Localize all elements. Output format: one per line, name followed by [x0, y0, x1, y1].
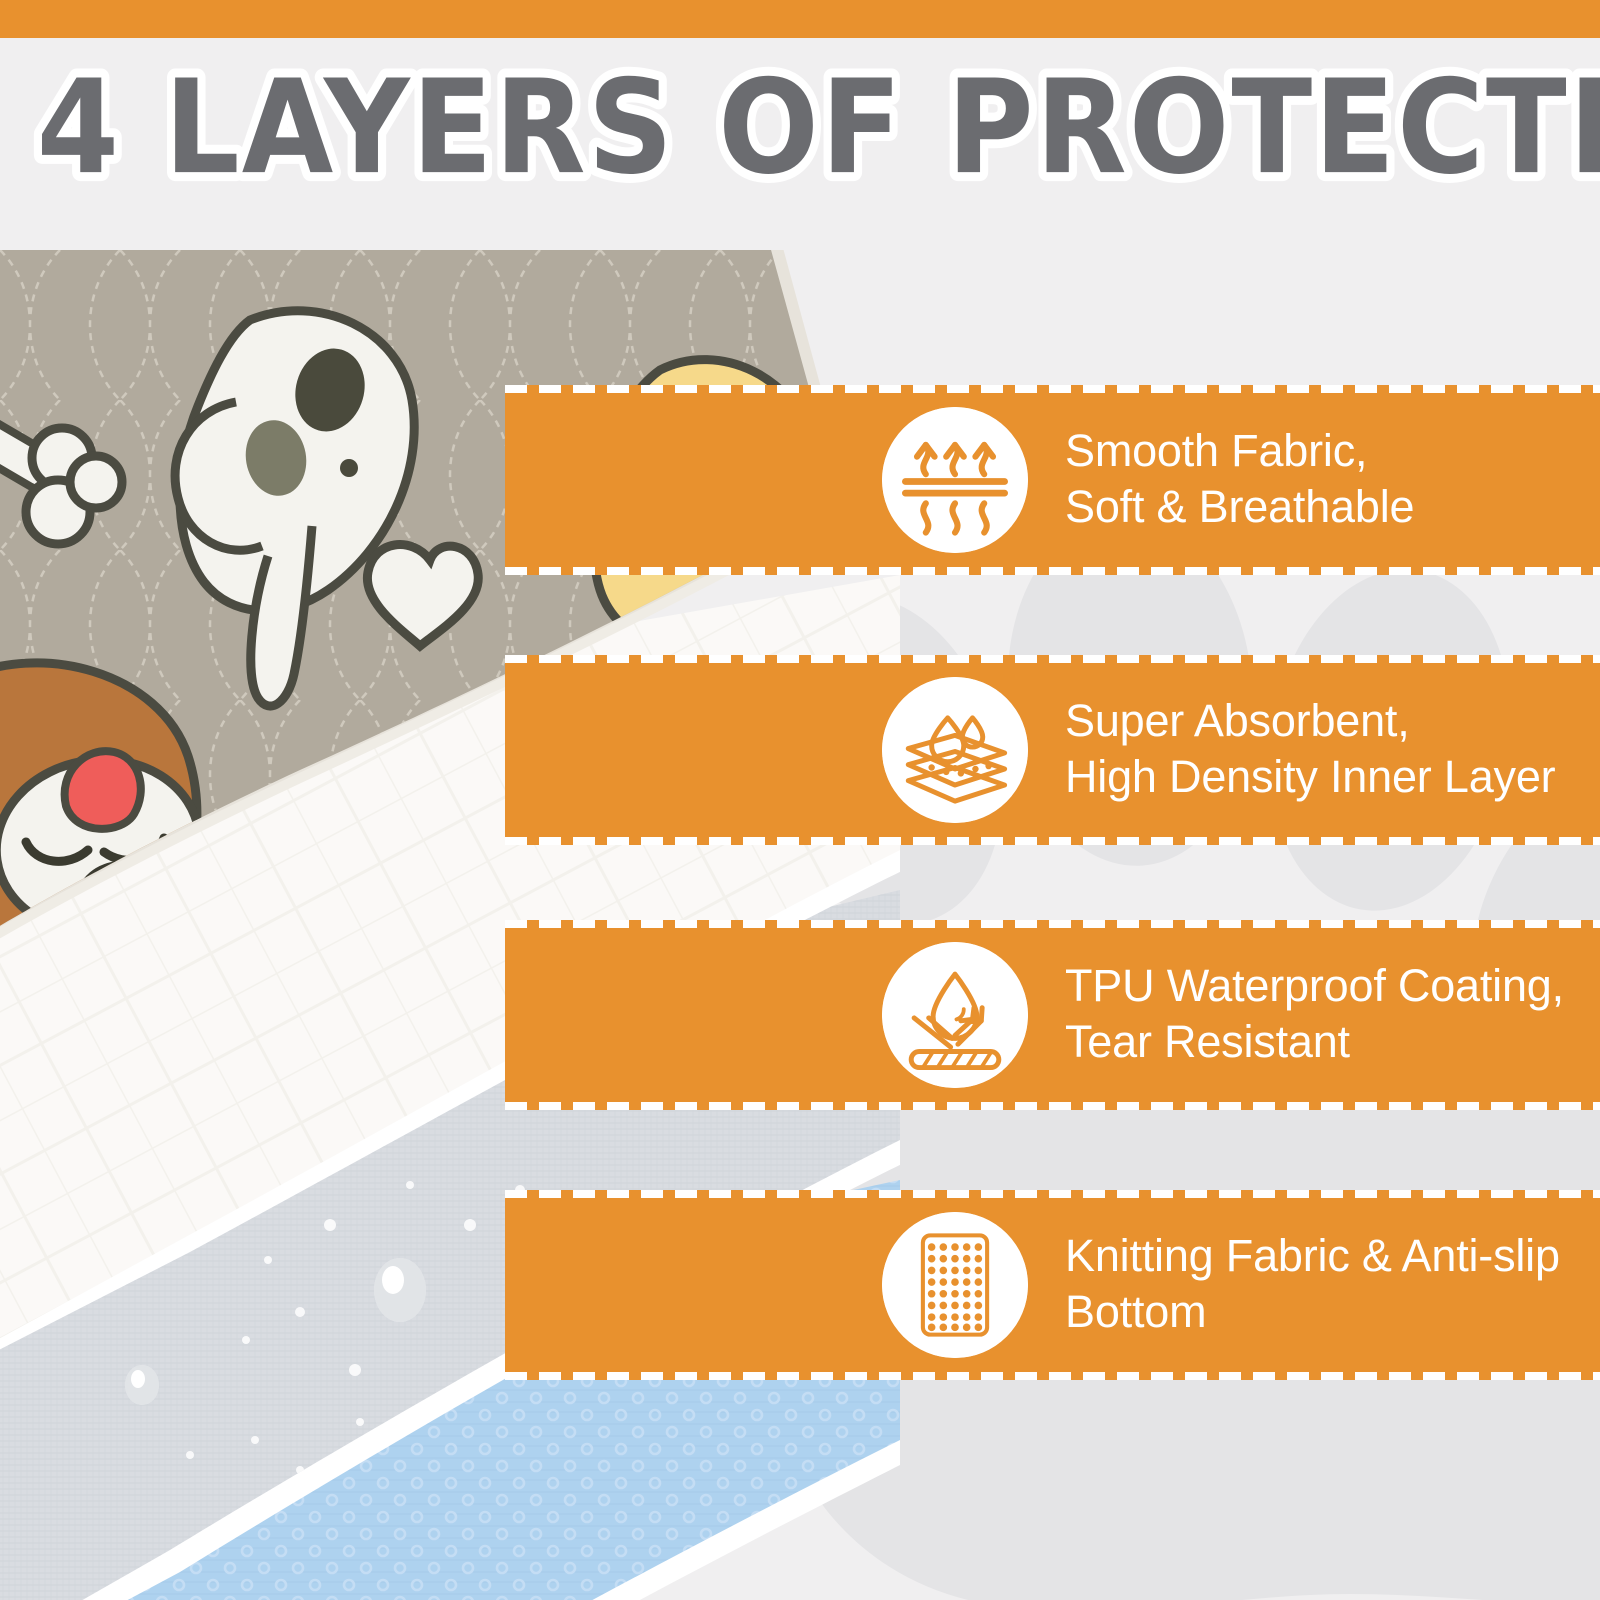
- band-dashed-border-bottom: [505, 837, 1600, 845]
- feature-band-tpu-waterproof[interactable]: TPU Waterproof Coating, Tear Resistant: [505, 920, 1600, 1110]
- breathable-arrows-icon: [882, 407, 1028, 553]
- page-title: 4 LAYERS OF PROTECTION 4 LAYERS OF PROTE…: [0, 40, 1600, 190]
- band-dashed-border-bottom: [505, 567, 1600, 575]
- band-dashed-border-top: [505, 655, 1600, 663]
- top-accent-bar: [0, 0, 1600, 38]
- feature-label: Knitting Fabric & Anti-slip Bottom: [1065, 1228, 1600, 1340]
- feature-band-smooth-fabric[interactable]: Smooth Fabric, Soft & Breathable: [505, 385, 1600, 575]
- waterproof-droplet-icon: [882, 942, 1028, 1088]
- feature-band-super-absorbent[interactable]: Super Absorbent, High Density Inner Laye…: [505, 655, 1600, 845]
- band-dashed-border-top: [505, 1190, 1600, 1198]
- band-dashed-border-bottom: [505, 1102, 1600, 1110]
- anti-slip-dots-icon: [882, 1212, 1028, 1358]
- band-dashed-border-bottom: [505, 1372, 1600, 1380]
- feature-label: Super Absorbent, High Density Inner Laye…: [1065, 693, 1595, 805]
- feature-label: TPU Waterproof Coating, Tear Resistant: [1065, 958, 1595, 1070]
- infographic-canvas: 4 LAYERS OF PROTECTION 4 LAYERS OF PROTE…: [0, 0, 1600, 1600]
- absorbent-layers-icon: [882, 677, 1028, 823]
- feature-label: Smooth Fabric, Soft & Breathable: [1065, 423, 1585, 535]
- band-dashed-border-top: [505, 385, 1600, 393]
- svg-text:4 LAYERS OF PROTECTION: 4 LAYERS OF PROTECTION: [37, 53, 1600, 190]
- band-dashed-border-top: [505, 920, 1600, 928]
- feature-band-anti-slip[interactable]: Knitting Fabric & Anti-slip Bottom: [505, 1190, 1600, 1380]
